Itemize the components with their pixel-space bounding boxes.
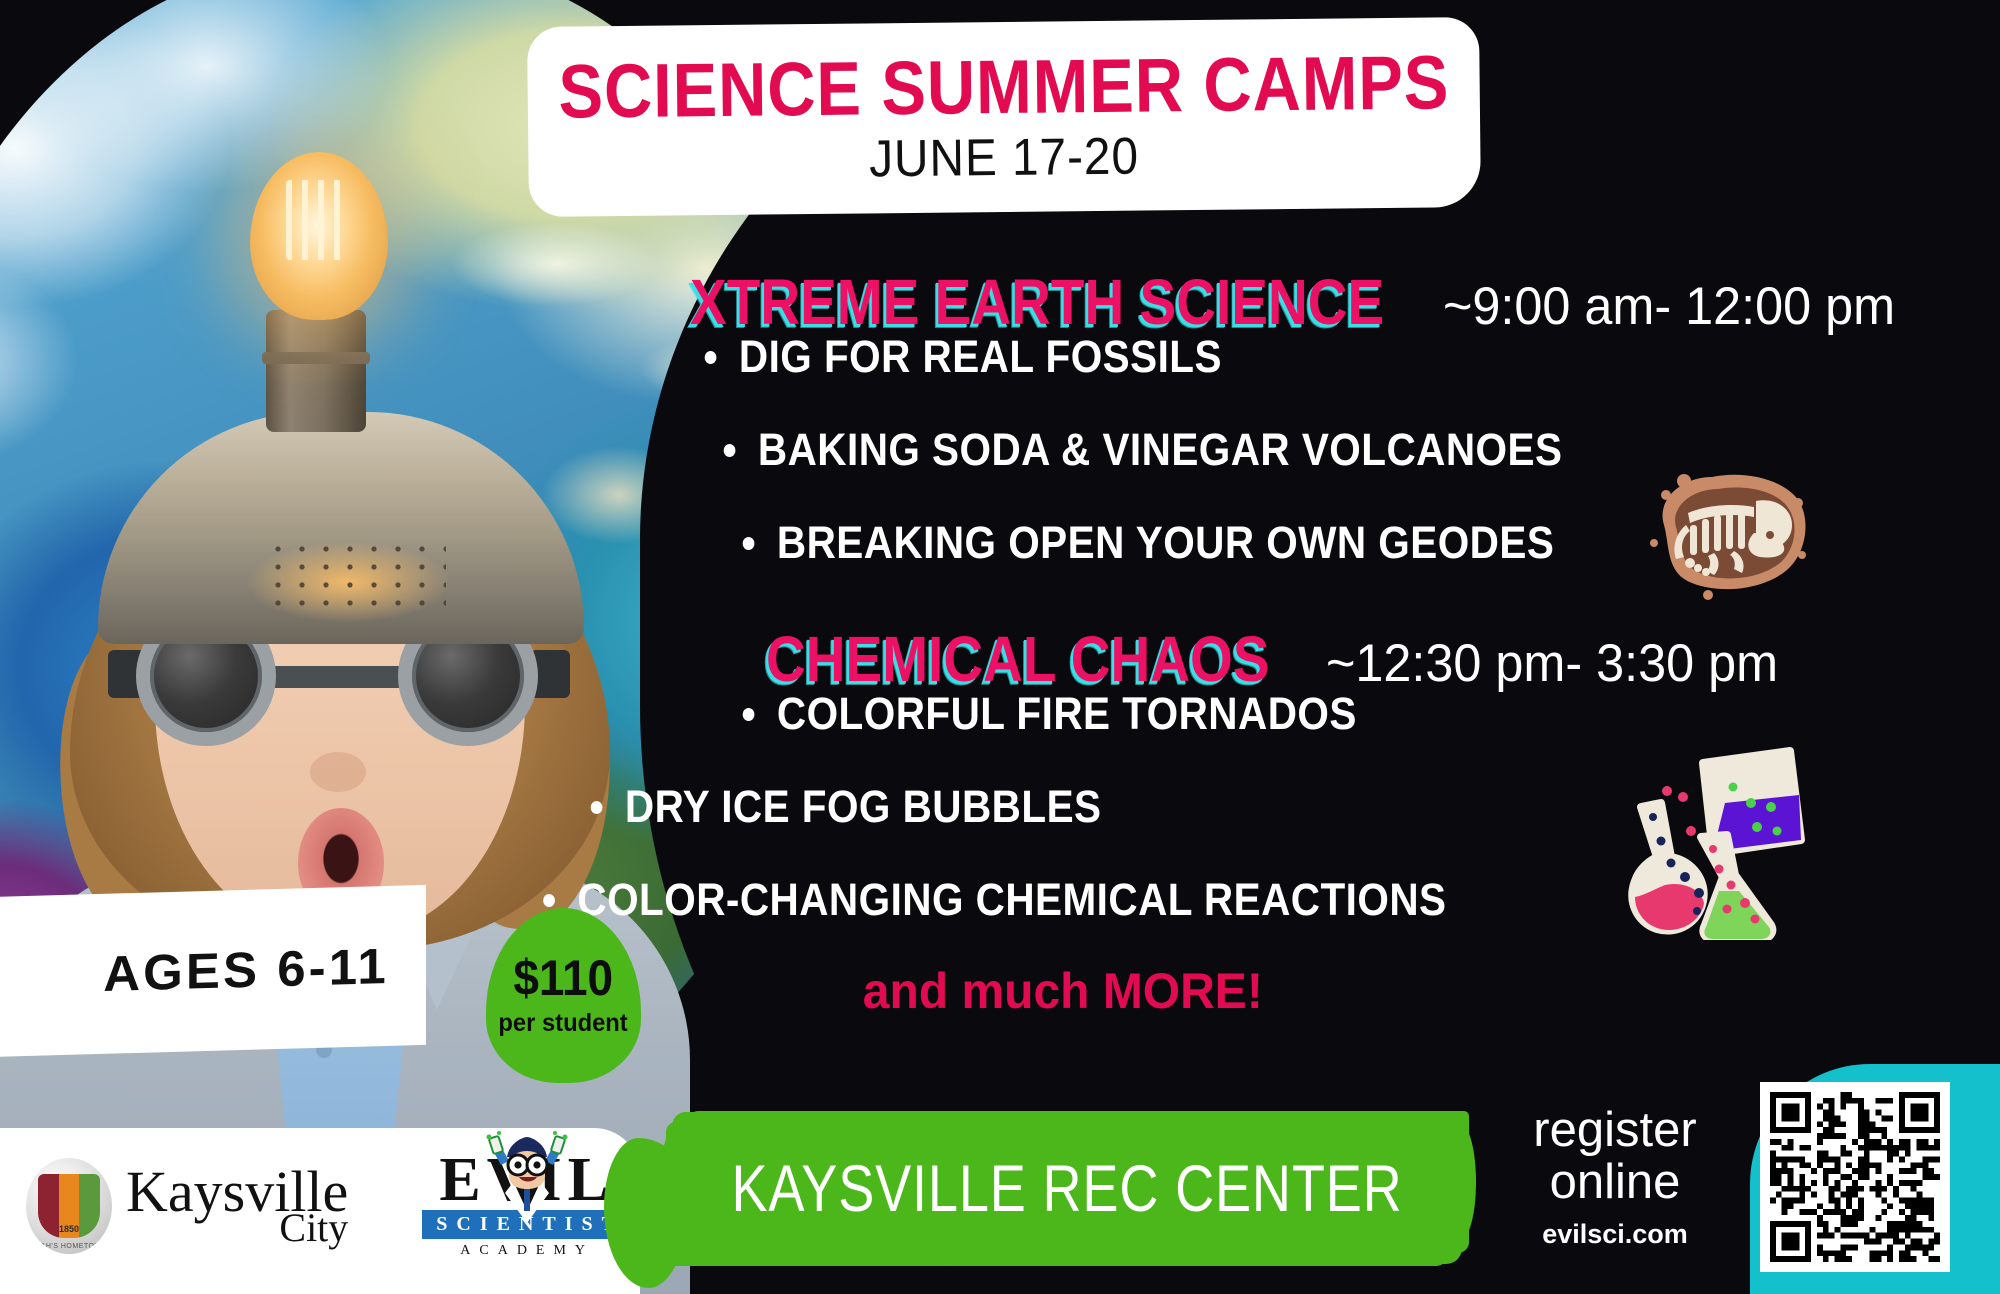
list-item: DIG FOR REAL FOSSILS [698,334,1913,379]
session-header-earth-science: XTREME EARTH SCIENCE ~9:00 am- 12:00 pm [690,270,1980,334]
evil-scientist-academy-logo: EVIL SCIENTIST ACADEMY [422,1153,632,1260]
session-name: CHEMICAL CHAOS [766,627,1270,691]
lamp-socket [266,310,366,432]
qr-code-svg [1770,1092,1940,1262]
page-subtitle: JUNE 17-20 [869,131,1139,186]
register-line2: online [1500,1157,1730,1209]
session-name: XTREME EARTH SCIENCE [690,270,1384,334]
register-block: register online evilsci.com [1500,1105,1730,1250]
lightbulb-icon [250,152,388,320]
lamp-vent-holes [266,540,446,610]
list-item: COLORFUL FIRE TORNADOS [736,691,1915,736]
register-line1: register [1500,1105,1730,1157]
ages-label: AGES 6-11 [93,937,399,1004]
lamp-shade-hat [98,412,584,644]
esa-word-bottom: ACADEMY [422,1243,632,1259]
lab-flasks-icon [1605,745,1840,940]
qr-code-icon[interactable] [1760,1082,1950,1272]
seal-year: 1850 [26,1224,112,1234]
seal-motto: UTAH'S HOMETOWN [26,1243,112,1250]
register-url[interactable]: evilsci.com [1500,1219,1730,1250]
kaysville-wordmark: Kaysville City [126,1168,348,1244]
kaysville-city-logo: 1850 UTAH'S HOMETOWN Kaysville City [26,1158,348,1254]
goggles-bridge [270,666,412,688]
bulb-filament [286,180,350,260]
esa-mascot-icon [479,1131,575,1227]
location-banner-label: KAYSVILLE REC CENTER [743,1112,1391,1264]
session-time: ~9:00 am- 12:00 pm [1443,280,1895,333]
poster-canvas: SCIENCE SUMMER CAMPS JUNE 17-20 XTREME E… [0,0,2000,1294]
logo-row: 1850 UTAH'S HOMETOWN Kaysville City EVIL [0,1118,640,1294]
price-unit: per student [499,1009,628,1038]
lamp-socket-ring [262,352,370,364]
session-time: ~12:30 pm- 3:30 pm [1326,637,1778,690]
dinosaur-fossil-icon [1630,455,1820,605]
price-amount: $110 [514,953,614,1003]
session-header-chemical-chaos: CHEMICAL CHAOS ~12:30 pm- 3:30 pm [766,627,1980,691]
title-card: SCIENCE SUMMER CAMPS JUNE 17-20 [527,17,1481,217]
page-title: SCIENCE SUMMER CAMPS [558,45,1450,130]
kid-nose [310,752,366,792]
kaysville-seal-icon: 1850 UTAH'S HOMETOWN [26,1158,112,1254]
